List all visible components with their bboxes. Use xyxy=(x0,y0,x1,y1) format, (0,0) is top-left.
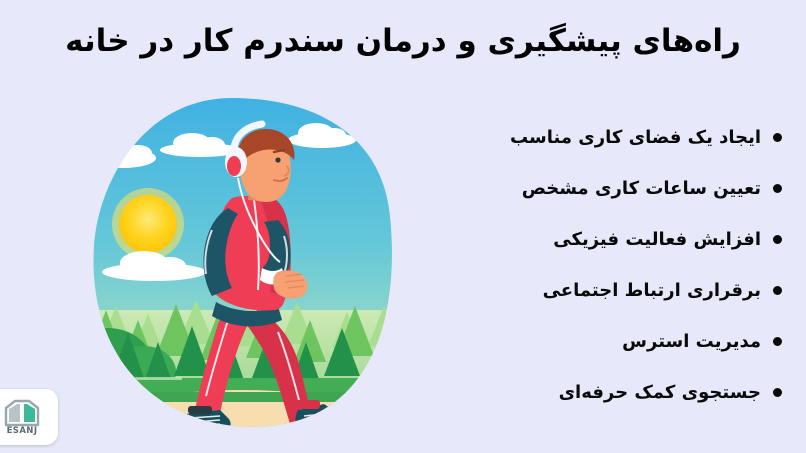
esanj-book-icon: ESANJ xyxy=(0,398,44,436)
bullet-dot-icon xyxy=(773,388,782,397)
list-item-label: جستجوی کمک حرفه‌ای xyxy=(559,384,761,402)
list-item-label: برقراری ارتباط اجتماعی xyxy=(543,282,761,300)
esanj-logo-badge: ESANJ xyxy=(0,389,58,445)
illustration-jogging-man xyxy=(82,96,402,431)
bullet-dot-icon xyxy=(773,184,782,193)
poster-canvas: راه‌های پیشگیری و درمان سندرم کار در خان… xyxy=(0,0,806,453)
list-item: مدیریت استرس xyxy=(422,316,782,367)
list-item-label: افزایش فعالیت فیزیکی xyxy=(553,231,761,249)
list-item: ایجاد یک فضای کاری مناسب xyxy=(422,112,782,163)
list-item: برقراری ارتباط اجتماعی xyxy=(422,265,782,316)
bullet-dot-icon xyxy=(773,133,782,142)
list-item: افزایش فعالیت فیزیکی xyxy=(422,214,782,265)
list-item-label: ایجاد یک فضای کاری مناسب xyxy=(510,129,761,147)
list-item: تعیین ساعات کاری مشخص xyxy=(422,163,782,214)
list-item: جستجوی کمک حرفه‌ای xyxy=(422,367,782,418)
list-item-label: مدیریت استرس xyxy=(622,333,761,351)
esanj-wordmark: ESANJ xyxy=(7,426,38,436)
bullet-dot-icon xyxy=(773,235,782,244)
page-title: راه‌های پیشگیری و درمان سندرم کار در خان… xyxy=(0,22,806,61)
bullet-dot-icon xyxy=(773,337,782,346)
list-item-label: تعیین ساعات کاری مشخص xyxy=(522,180,761,198)
bullet-dot-icon xyxy=(773,286,782,295)
benefits-list: ایجاد یک فضای کاری مناسب تعیین ساعات کار… xyxy=(422,112,782,418)
